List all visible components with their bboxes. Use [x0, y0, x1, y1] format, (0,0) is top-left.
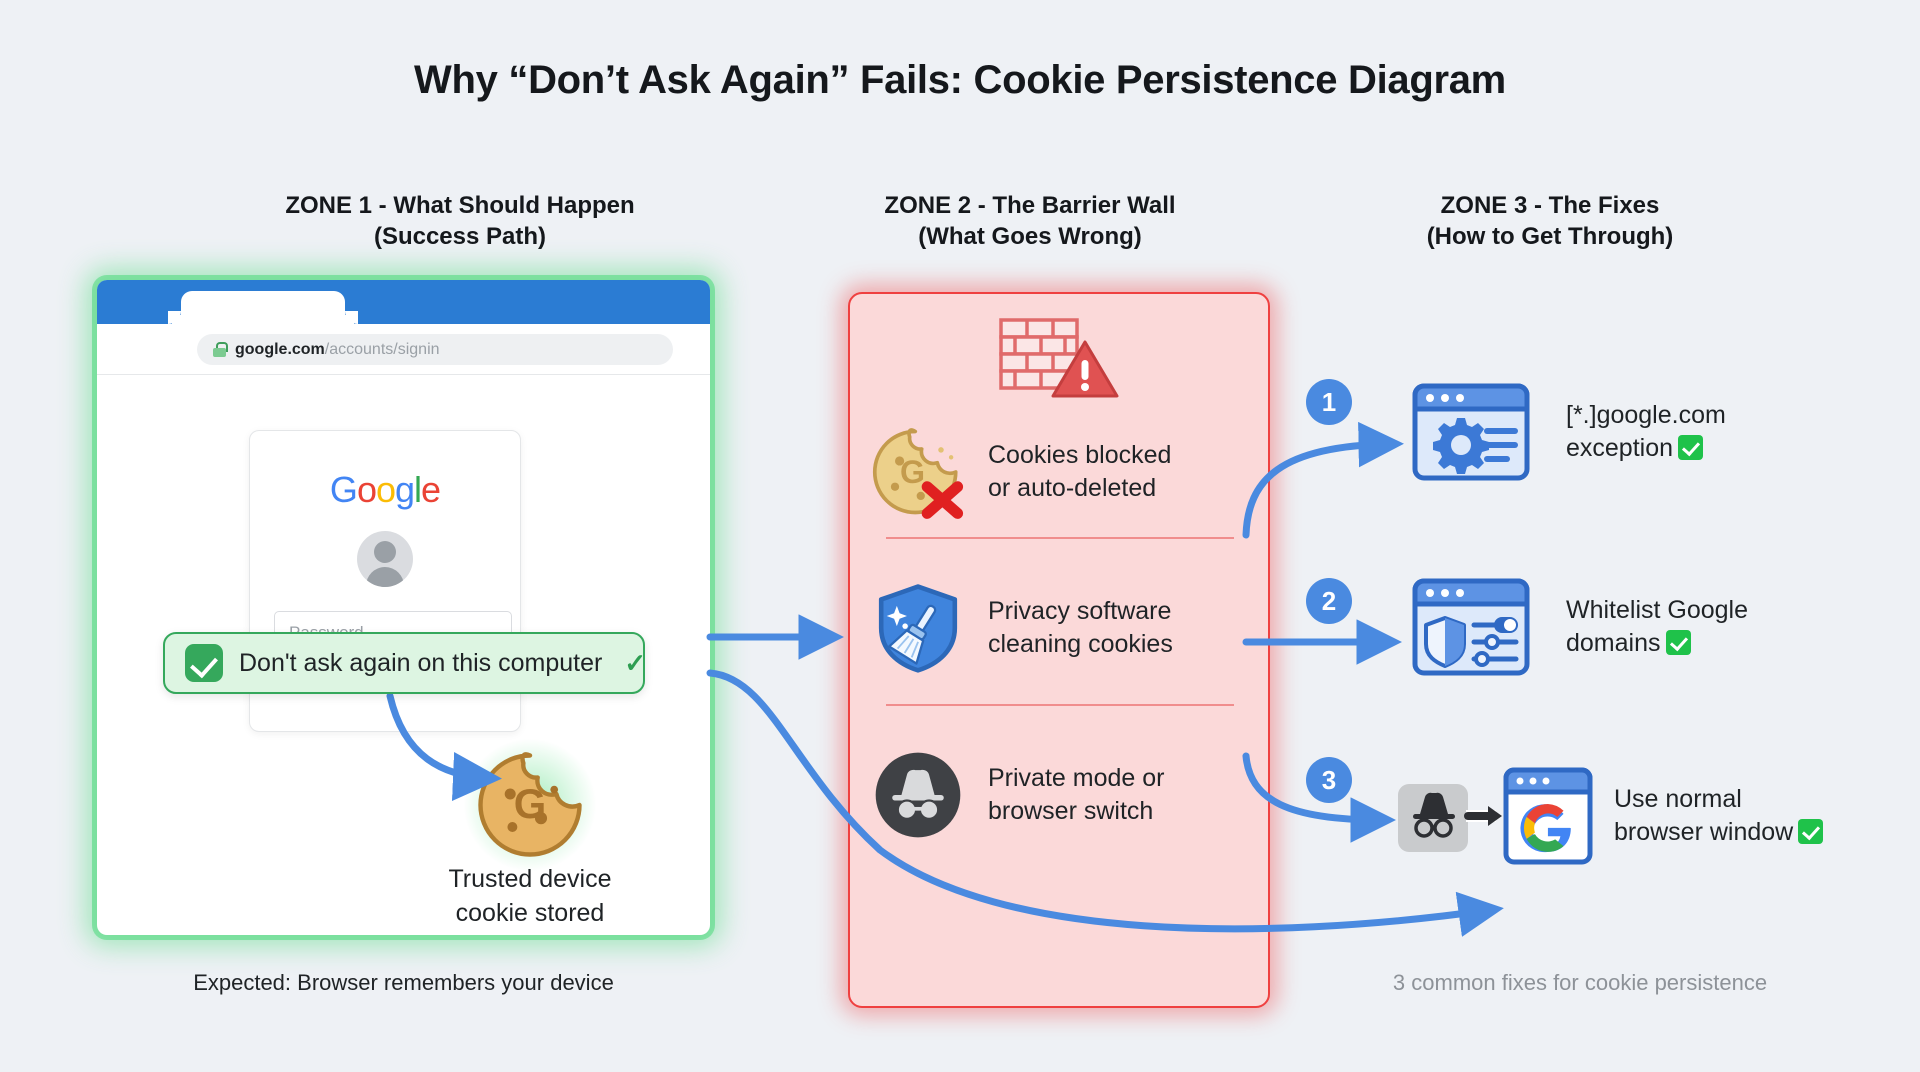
zone-connector-arrows [700, 600, 1700, 1000]
barrier-divider-1 [886, 537, 1234, 539]
page-title: Why “Don’t Ask Again” Fails: Cookie Pers… [0, 58, 1920, 103]
zone1-heading-line2: (Success Path) [110, 221, 810, 252]
browser-toolbar: google.com/accounts/signin [97, 324, 710, 375]
browser-tab[interactable] [181, 291, 345, 324]
checkbox-to-cookie-arrow [380, 690, 560, 800]
zone3-heading: ZONE 3 - The Fixes (How to Get Through) [1300, 190, 1800, 252]
fix-1-line1: [*.]google.com [1566, 399, 1726, 433]
fix-1-text: [*.]google.com exception [1566, 399, 1726, 466]
svg-text:G: G [900, 454, 925, 490]
arrow-to-fix-3 [1246, 756, 1382, 820]
zone3-heading-line1: ZONE 3 - The Fixes [1300, 190, 1800, 221]
barrier-item-1-text: Cookies blocked or auto-deleted [988, 439, 1171, 505]
brick-wall-warning-icon [997, 316, 1121, 404]
barrier-1-line2: or auto-deleted [988, 472, 1171, 505]
zone3-heading-line2: (How to Get Through) [1300, 221, 1800, 252]
avatar [357, 531, 413, 587]
green-check-icon-1 [1678, 435, 1703, 460]
zone1-heading: ZONE 1 - What Should Happen (Success Pat… [110, 190, 810, 252]
barrier-1-line1: Cookies blocked [988, 439, 1171, 472]
barrier-item-cookies-blocked: G Cookies blocked or auto-deleted [872, 426, 1246, 518]
green-check-icon-3 [1798, 819, 1823, 844]
zone2-heading: ZONE 2 - The Barrier Wall (What Goes Wro… [780, 190, 1280, 252]
cookie-blocked-icon: G [872, 426, 964, 518]
arrow-to-fix-1 [1246, 444, 1390, 535]
zone1-browser-mockup: google.com/accounts/signin Google Passwo… [97, 280, 710, 935]
fix-row-1: [*.]google.com exception [1412, 383, 1726, 481]
dont-ask-again-checkbox-row[interactable]: Don't ask again on this computer ✓ [163, 632, 645, 694]
diagram-canvas: Why “Don’t Ask Again” Fails: Cookie Pers… [0, 0, 1920, 1072]
padlock-icon [213, 342, 226, 357]
url-domain: google.com [235, 341, 325, 358]
zone1-heading-line1: ZONE 1 - What Should Happen [110, 190, 810, 221]
confirm-check-icon: ✓ [624, 648, 646, 679]
barrier-to-fix-arrows [1240, 380, 1440, 920]
cookie-caption-line2: cookie stored [355, 896, 705, 930]
zone2-heading-line1: ZONE 2 - The Barrier Wall [780, 190, 1280, 221]
zone1-footer: Expected: Browser remembers your device [97, 970, 710, 996]
checkbox-checked-icon[interactable] [185, 644, 223, 682]
zone2-heading-line2: (What Goes Wrong) [780, 221, 1280, 252]
fix-1-line2: exception [1566, 434, 1673, 462]
checkbox-label: Don't ask again on this computer [239, 649, 602, 678]
url-bar[interactable]: google.com/accounts/signin [197, 334, 673, 365]
url-path: /accounts/signin [325, 341, 440, 358]
google-logo: Google [250, 469, 520, 511]
